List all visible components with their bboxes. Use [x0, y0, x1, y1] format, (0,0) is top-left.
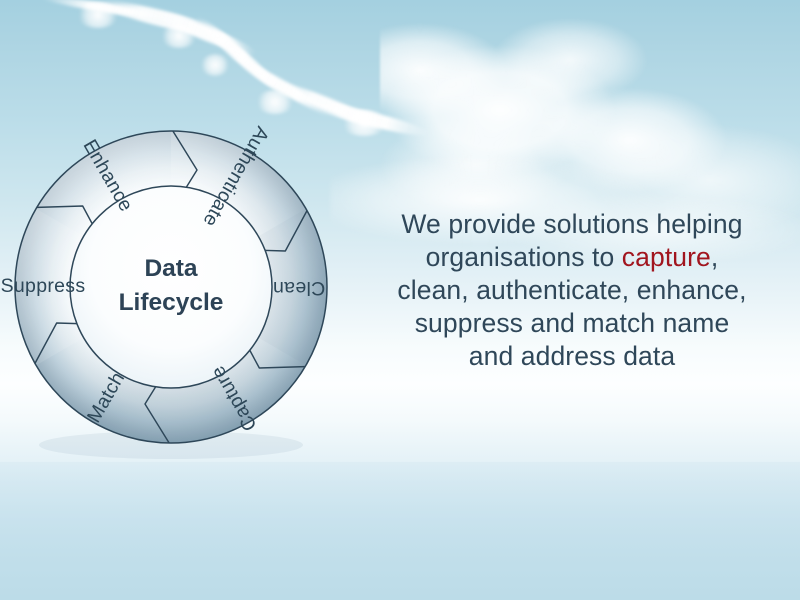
body-line-5: and address data — [352, 340, 792, 373]
data-lifecycle-diagram[interactable]: Authenticate Clean Capture Match Suppres… — [0, 118, 345, 463]
cloud-bank-icon — [380, 0, 800, 230]
hub-label-line1: Data — [144, 255, 197, 282]
slide-reflection: Authenticate Clean Capture Match Suppres… — [0, 462, 800, 600]
body-copy: We provide solutions helping organisatio… — [352, 208, 792, 373]
hub-label-line2: Lifecycle — [119, 289, 224, 316]
body-line-4: suppress and match name — [352, 307, 792, 340]
segment-label-suppress[interactable]: Suppress — [1, 275, 86, 297]
accent-word-capture: capture — [622, 242, 711, 272]
slide-canvas: Authenticate Clean Capture Match Suppres… — [0, 0, 800, 600]
body-line-2: organisations to capture, — [352, 241, 792, 274]
body-line-2-pre: organisations to — [426, 242, 622, 272]
body-line-1: We provide solutions helping — [352, 208, 792, 241]
segment-label-clean[interactable]: Clean — [273, 277, 325, 299]
body-line-3: clean, authenticate, enhance, — [352, 274, 792, 307]
body-line-2-post: , — [711, 242, 718, 272]
reflection-fade-overlay — [0, 462, 800, 600]
diagram-svg: Authenticate Clean Capture Match Suppres… — [0, 118, 345, 463]
